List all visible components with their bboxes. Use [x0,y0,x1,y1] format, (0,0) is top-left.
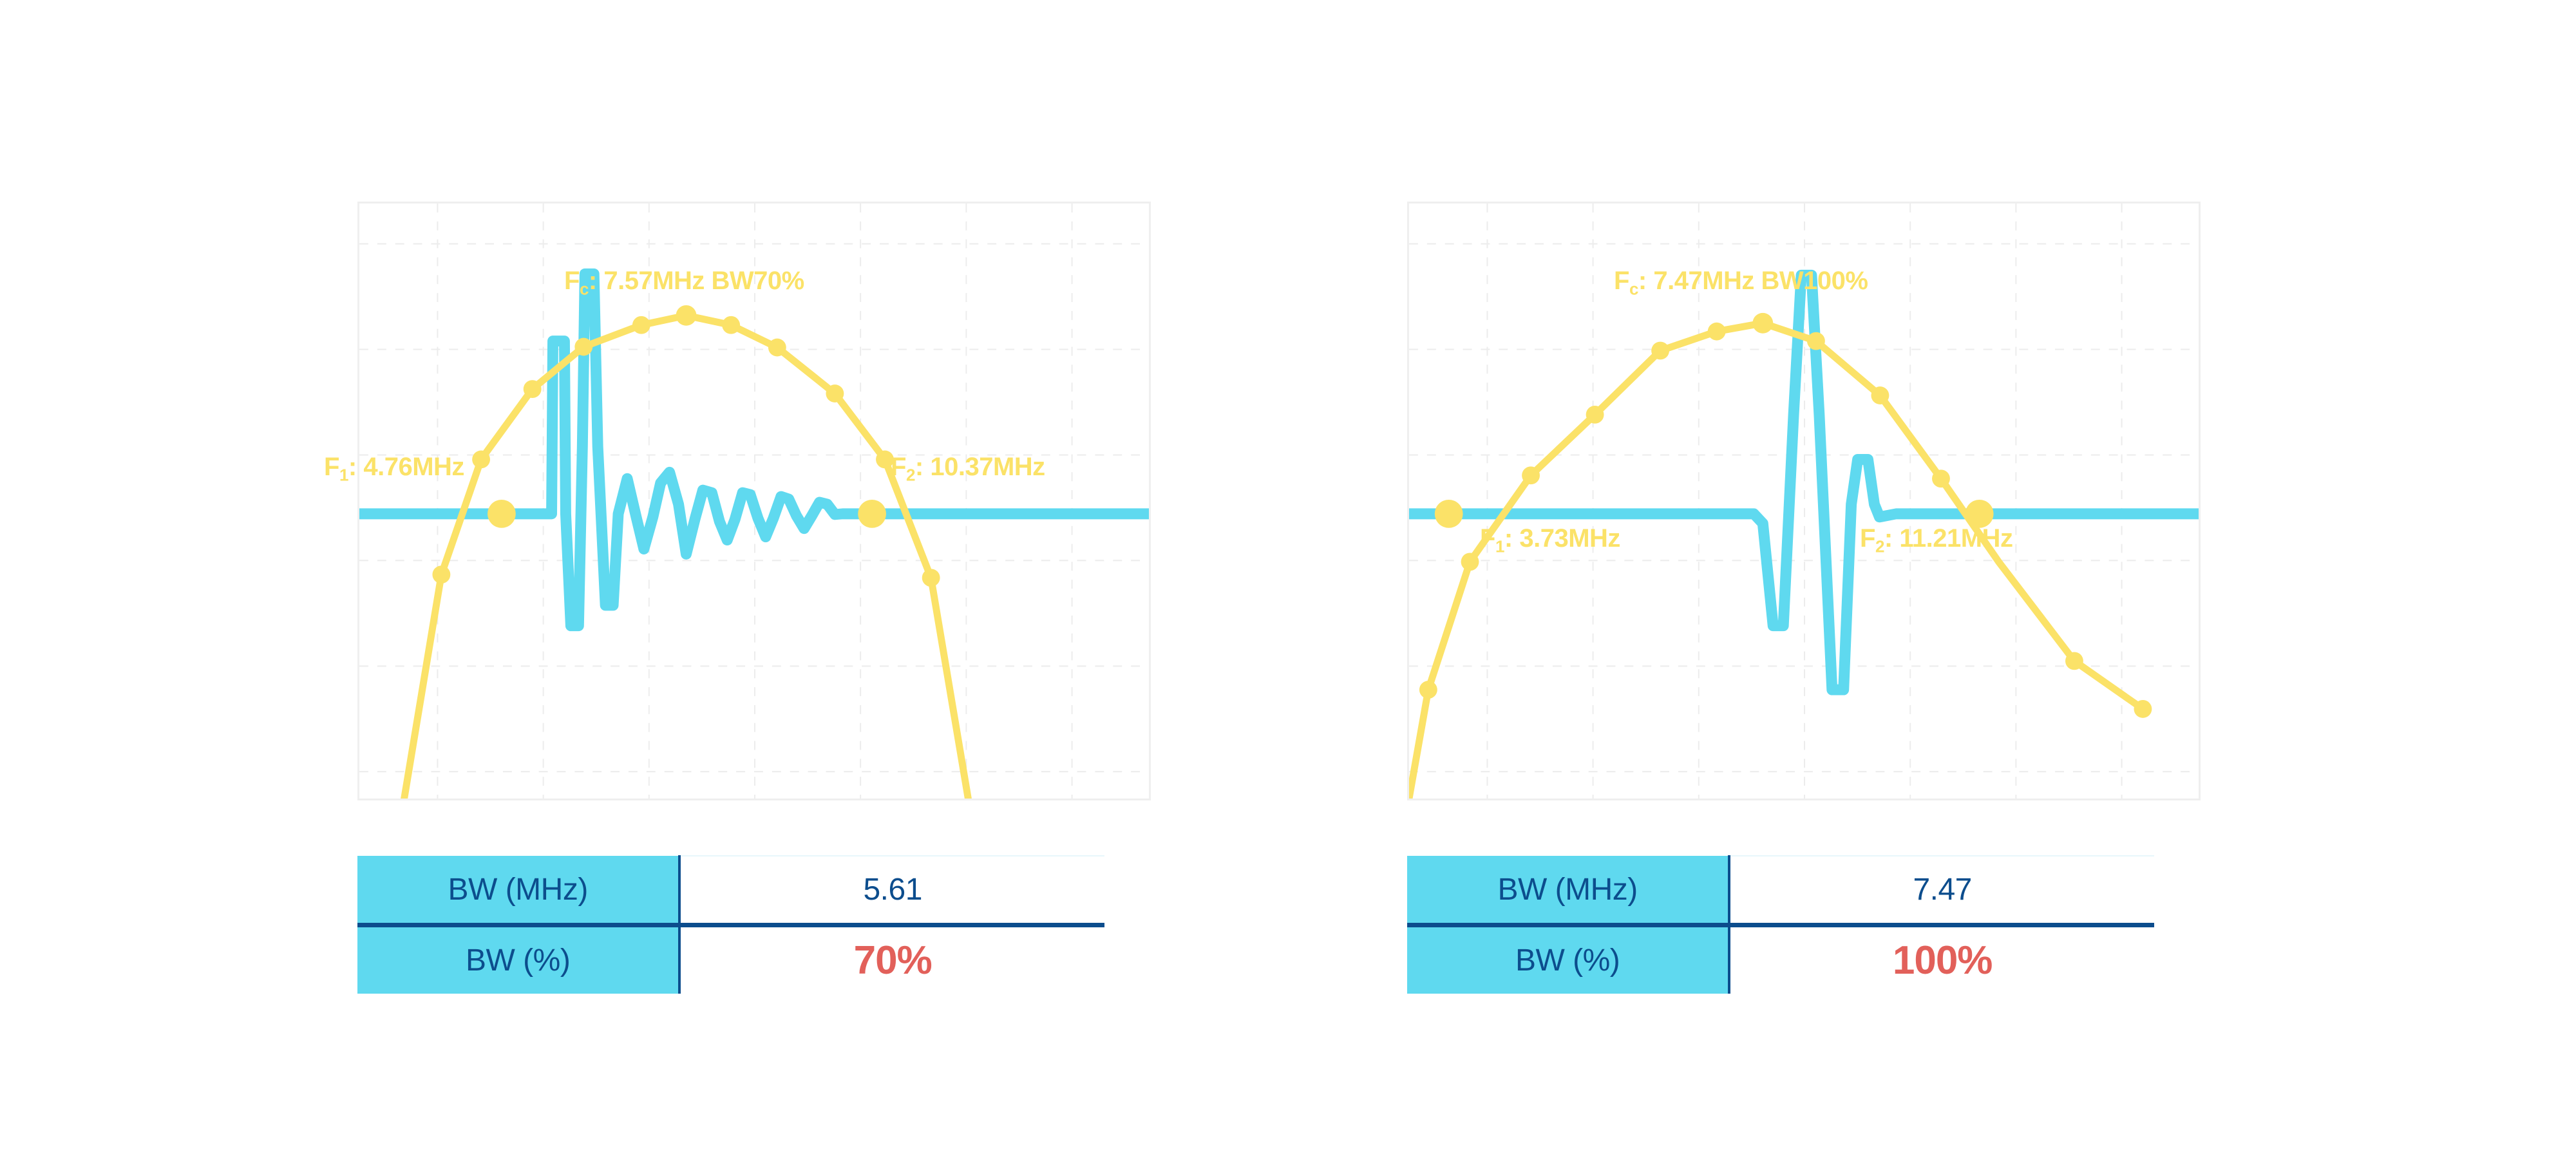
chart-frame-bw100: F1: 3.73MHz Fc: 7.47MHz BW100% F2: 11.21… [1407,202,2201,800]
label-f1-bw70: F1: 4.76MHz [324,454,464,483]
table-row: BW (MHz) 5.61 [357,856,1104,925]
bw-mhz-label: BW (MHz) [357,856,679,925]
bw-pct-label: BW (%) [357,925,679,994]
figure-root: F1: 4.76MHz Fc: 7.57MHz BW70% F2: 10.37M… [0,0,2576,1154]
bw-pct-value: 70% [679,925,1104,994]
label-f2-prefix: F [891,453,906,481]
table-row: BW (%) 100% [1407,925,2154,994]
bw-mhz-label: BW (MHz) [1407,856,1729,925]
label-f2-prefix: F [1860,524,1875,553]
label-f2-text: : 11.21MHz [1884,524,2013,553]
chart-frame-bw70: F1: 4.76MHz Fc: 7.57MHz BW70% F2: 10.37M… [357,202,1151,800]
label-fc-sub: c [1629,279,1638,298]
label-fc-prefix: F [564,267,580,295]
label-f1-prefix: F [1480,524,1495,553]
bw-mhz-value: 5.61 [679,856,1104,925]
label-f1-sub: 1 [339,465,348,484]
label-f2-text: : 10.37MHz [915,453,1045,481]
table-row: BW (MHz) 7.47 [1407,856,2154,925]
bw-pct-label: BW (%) [1407,925,1729,994]
bw-table-100: BW (MHz) 7.47 BW (%) 100% [1407,855,2154,994]
label-f1-prefix: F [324,453,339,481]
label-fc-sub: c [580,279,589,298]
bw-table-70: BW (MHz) 5.61 BW (%) 70% [357,855,1104,994]
label-f2-sub: 2 [906,465,915,484]
label-fc-bw100: Fc: 7.47MHz BW100% [1614,268,1868,297]
label-f1-bw100: F1: 3.73MHz [1480,525,1620,554]
bw-pct-value: 100% [1729,925,2154,994]
label-f1-sub: 1 [1495,536,1504,556]
panel-bw100: F1: 3.73MHz Fc: 7.47MHz BW100% F2: 11.21… [1359,0,2260,1154]
label-f2-bw100: F2: 11.21MHz [1860,525,2012,554]
pulse-waveform-bw70 [359,274,1149,625]
table-row: BW (%) 70% [357,925,1104,994]
panel-bw70: F1: 4.76MHz Fc: 7.57MHz BW70% F2: 10.37M… [309,0,1211,1154]
label-f2-bw70: F2: 10.37MHz [891,454,1045,483]
label-fc-prefix: F [1614,267,1629,295]
label-fc-text: : 7.47MHz BW100% [1638,267,1868,295]
label-f2-sub: 2 [1875,536,1884,556]
label-f1-text: : 3.73MHz [1504,524,1620,553]
label-f1-text: : 4.76MHz [348,453,464,481]
bw-mhz-value: 7.47 [1729,856,2154,925]
label-fc-text: : 7.57MHz BW70% [589,267,804,295]
label-fc-bw70: Fc: 7.57MHz BW70% [564,268,804,297]
